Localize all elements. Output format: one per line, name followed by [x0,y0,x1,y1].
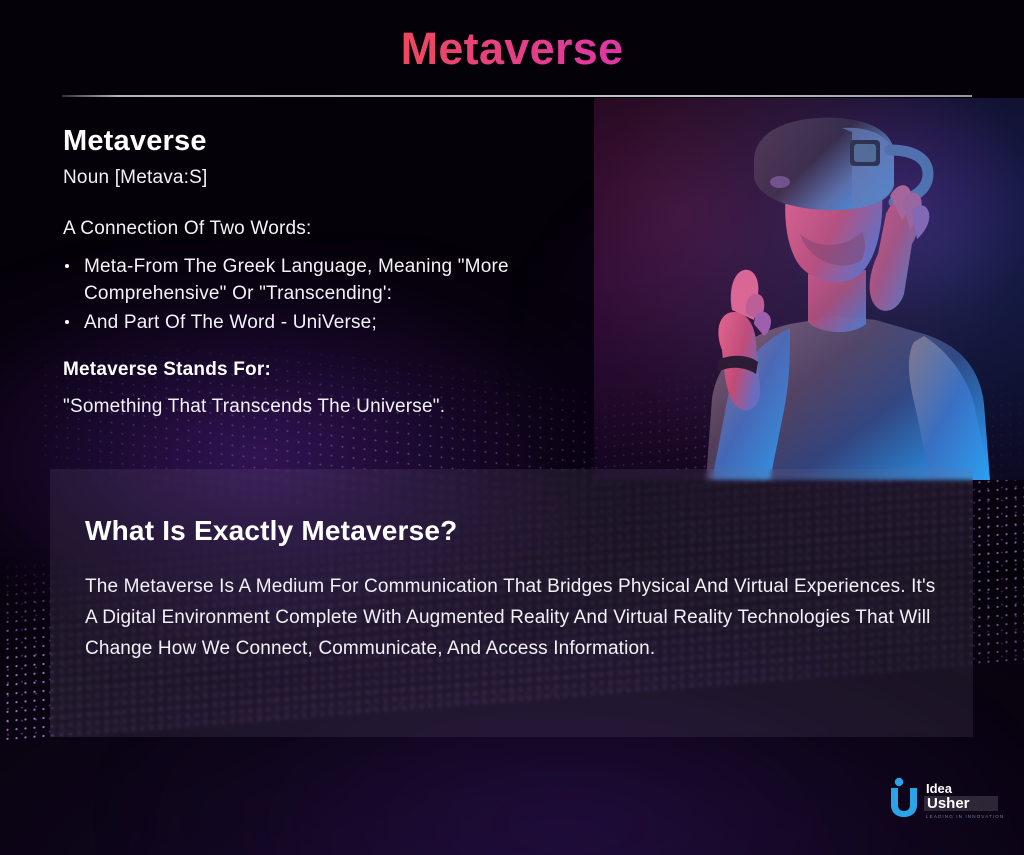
logo-u-icon [891,788,917,817]
brand-logo-idea-usher[interactable]: Idea Usher LEADING IN INNOVATION [886,775,1004,823]
page-title: Metaverse [0,23,1024,75]
definition-block: Metaverse Noun [Metava:S] A Connection O… [63,126,603,418]
bullet-dot-icon [65,320,69,324]
vr-man-illustration [594,98,1024,480]
stands-for-label: Metaverse Stands For: [63,359,603,381]
poster-canvas: Metaverse [0,0,1024,855]
list-item-label: And Part Of The Word - UniVerse; [84,312,377,333]
hero-image-vr-man [594,98,1024,480]
definition-term: Metaverse [63,126,603,158]
list-item-label: Meta-From The Greek Language, Meaning "M… [84,256,509,304]
card-heading: What Is Exactly Metaverse? [85,515,457,547]
logo-line1: Idea [926,781,953,796]
card-body: The Metaverse Is A Medium For Communicat… [85,572,947,665]
definition-pronunciation: Noun [Metava:S] [63,167,603,189]
list-item: Meta-From The Greek Language, Meaning "M… [63,254,603,308]
explainer-card: What Is Exactly Metaverse? The Metaverse… [50,469,973,737]
bullet-dot-icon [65,264,69,268]
definition-lead: A Connection Of Two Words: [63,218,603,240]
idea-usher-logo-mark: Idea Usher LEADING IN INNOVATION [886,775,1004,823]
logo-dot-icon [895,778,903,786]
logo-line2: Usher [927,795,970,812]
title-divider [62,95,972,97]
definition-bullet-list: Meta-From The Greek Language, Meaning "M… [63,254,603,337]
stands-for-value: "Something That Transcends The Universe"… [63,396,603,418]
list-item: And Part Of The Word - UniVerse; [63,310,603,337]
logo-tagline: LEADING IN INNOVATION [926,814,1004,819]
